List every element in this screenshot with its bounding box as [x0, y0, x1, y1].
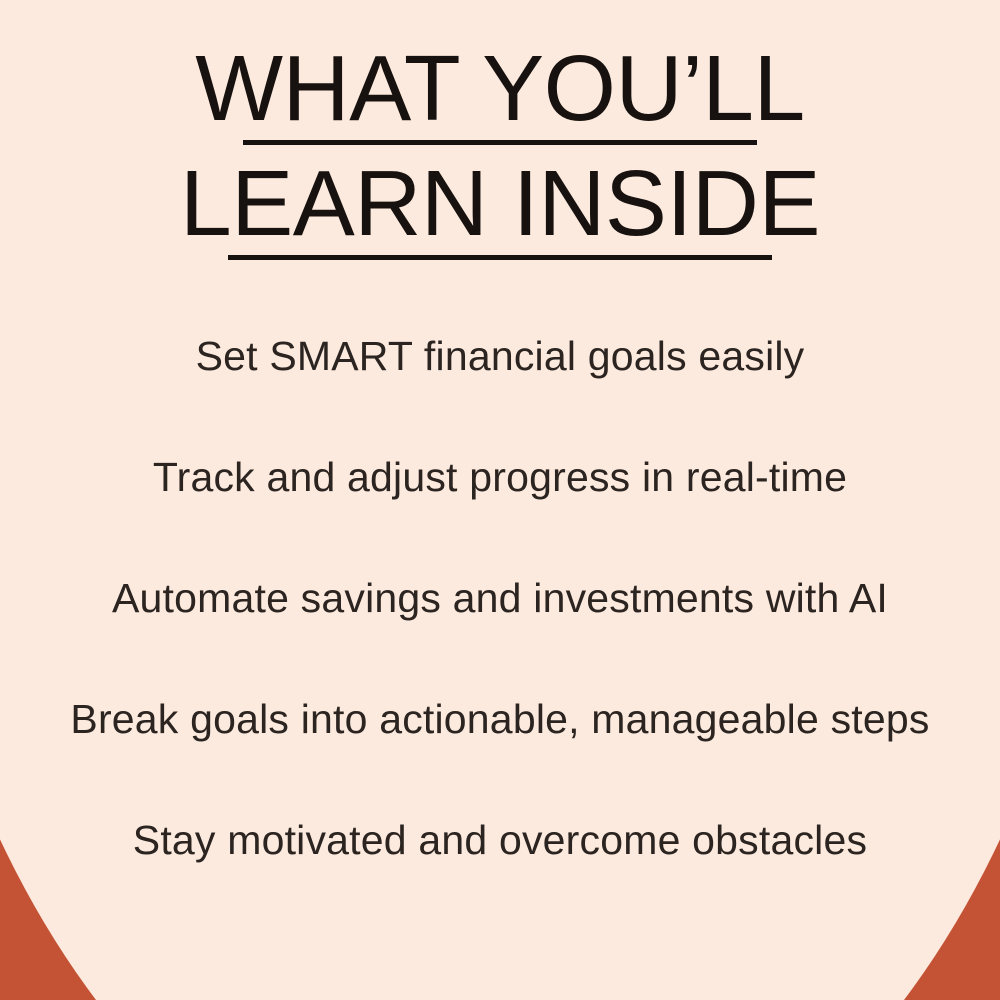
title-line-2: LEARN INSIDE — [0, 163, 1000, 260]
list-item: Stay motivated and overcome obstacles — [0, 780, 1000, 901]
title-line-2-text: LEARN INSIDE — [180, 151, 820, 255]
title-line-1: WHAT YOU’LL — [0, 48, 1000, 145]
slide-canvas: WHAT YOU’LL LEARN INSIDE Set SMART finan… — [0, 0, 1000, 1000]
list-item: Break goals into actionable, manageable … — [0, 659, 1000, 780]
slide-content: WHAT YOU’LL LEARN INSIDE Set SMART finan… — [0, 0, 1000, 1000]
title-line-1-text: WHAT YOU’LL — [195, 36, 805, 140]
title-underline-1 — [243, 140, 757, 145]
page-title: WHAT YOU’LL LEARN INSIDE — [0, 48, 1000, 260]
list-item: Track and adjust progress in real-time — [0, 417, 1000, 538]
list-item: Set SMART financial goals easily — [0, 296, 1000, 417]
learning-points-list: Set SMART financial goals easily Track a… — [0, 296, 1000, 901]
title-underline-2 — [228, 255, 772, 260]
list-item: Automate savings and investments with AI — [0, 538, 1000, 659]
